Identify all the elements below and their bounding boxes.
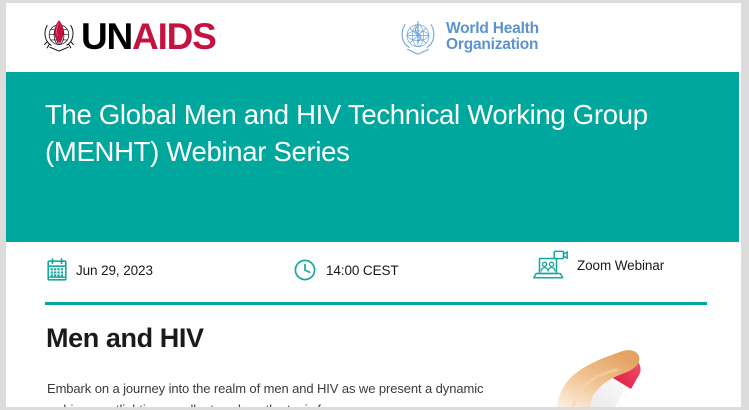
event-venue-text: Zoom Webinar (577, 258, 664, 273)
who-wordmark-line2: Organization (446, 36, 538, 53)
event-time-item: 14:00 CEST (293, 250, 399, 290)
topic-description: Embark on a journey into the realm of me… (47, 378, 517, 407)
hand-holding-pill-illustration (557, 329, 741, 407)
clock-icon (293, 258, 317, 282)
page-frame: UNAIDS (0, 0, 749, 410)
unaids-wordmark-un: UN (81, 16, 132, 57)
unaids-logo: UNAIDS (38, 14, 216, 58)
unaids-wordmark: UNAIDS (81, 18, 216, 55)
topic-description-line1: Embark on a journey into the realm of me… (47, 381, 422, 396)
video-webinar-icon (533, 248, 569, 282)
event-date-item: Jun 29, 2023 (46, 250, 153, 290)
event-meta-row: Jun 29, 2023 14:00 CEST (6, 242, 741, 298)
hero-banner: The Global Men and HIV Technical Working… (6, 72, 739, 242)
who-emblem-icon (396, 15, 440, 59)
who-logo: World Health Organization (396, 14, 539, 60)
webinar-series-title: The Global Men and HIV Technical Working… (45, 97, 675, 170)
event-time-text: 14:00 CEST (326, 263, 399, 278)
flyer-page: UNAIDS (6, 3, 741, 407)
logo-strip: UNAIDS (6, 3, 741, 72)
calendar-icon (46, 258, 68, 282)
unaids-emblem-icon (38, 15, 80, 57)
topic-heading: Men and HIV (46, 324, 204, 354)
section-divider (45, 302, 707, 305)
who-wordmark-line1: World Health (446, 20, 539, 37)
event-date-text: Jun 29, 2023 (76, 263, 153, 278)
who-wordmark: World Health Organization (446, 21, 539, 54)
unaids-wordmark-aids: AIDS (132, 16, 216, 57)
event-venue-item: Zoom Webinar (533, 245, 664, 285)
